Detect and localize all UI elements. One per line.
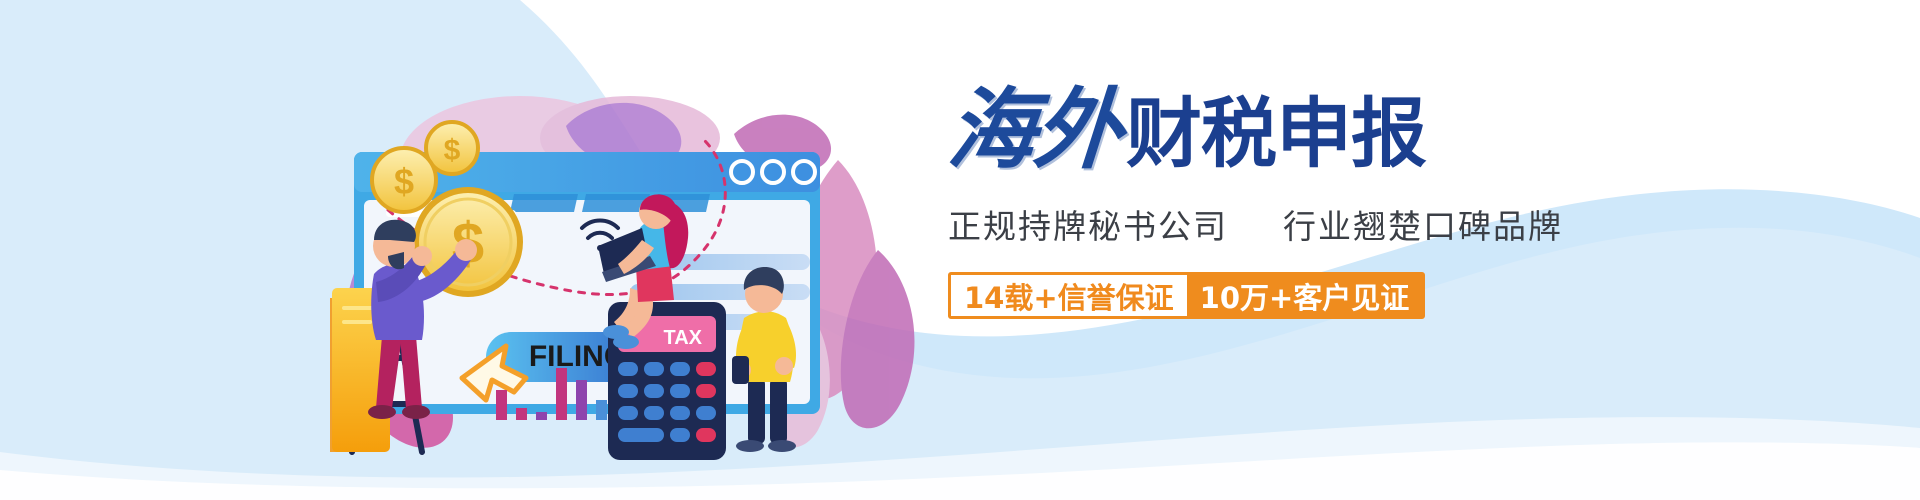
subtitle-left: 正规持牌秘书公司 [948,207,1228,246]
svg-text:$: $ [444,134,461,167]
illustration: FILING $ $ $ [330,60,940,460]
subtitle-right: 行业翘楚口碑品牌 [1283,207,1563,246]
headline-part2: 财税申报 [1126,96,1426,174]
badge-customers: 10万+客户见证 [1187,275,1423,316]
text-block: 海外 财税申报 正规持牌秘书公司 行业翘楚口碑品牌 14载+信誉保证 10万+客… [948,78,1588,368]
headline-part1: 海外 [945,86,1123,174]
headline: 海外 财税申报 [948,78,1588,174]
illustration-svg: FILING $ $ $ [330,60,940,460]
badge-years: 14载+信誉保证 [951,275,1187,316]
coin-medium: $ [372,148,436,212]
banner-root: FILING $ $ $ [0,0,1920,500]
badge-group: 14载+信誉保证 10万+客户见证 [948,272,1425,319]
svg-text:$: $ [394,161,414,202]
subtitle: 正规持牌秘书公司 行业翘楚口碑品牌 [948,200,1588,248]
calculator-display-label: TAX [663,327,702,349]
